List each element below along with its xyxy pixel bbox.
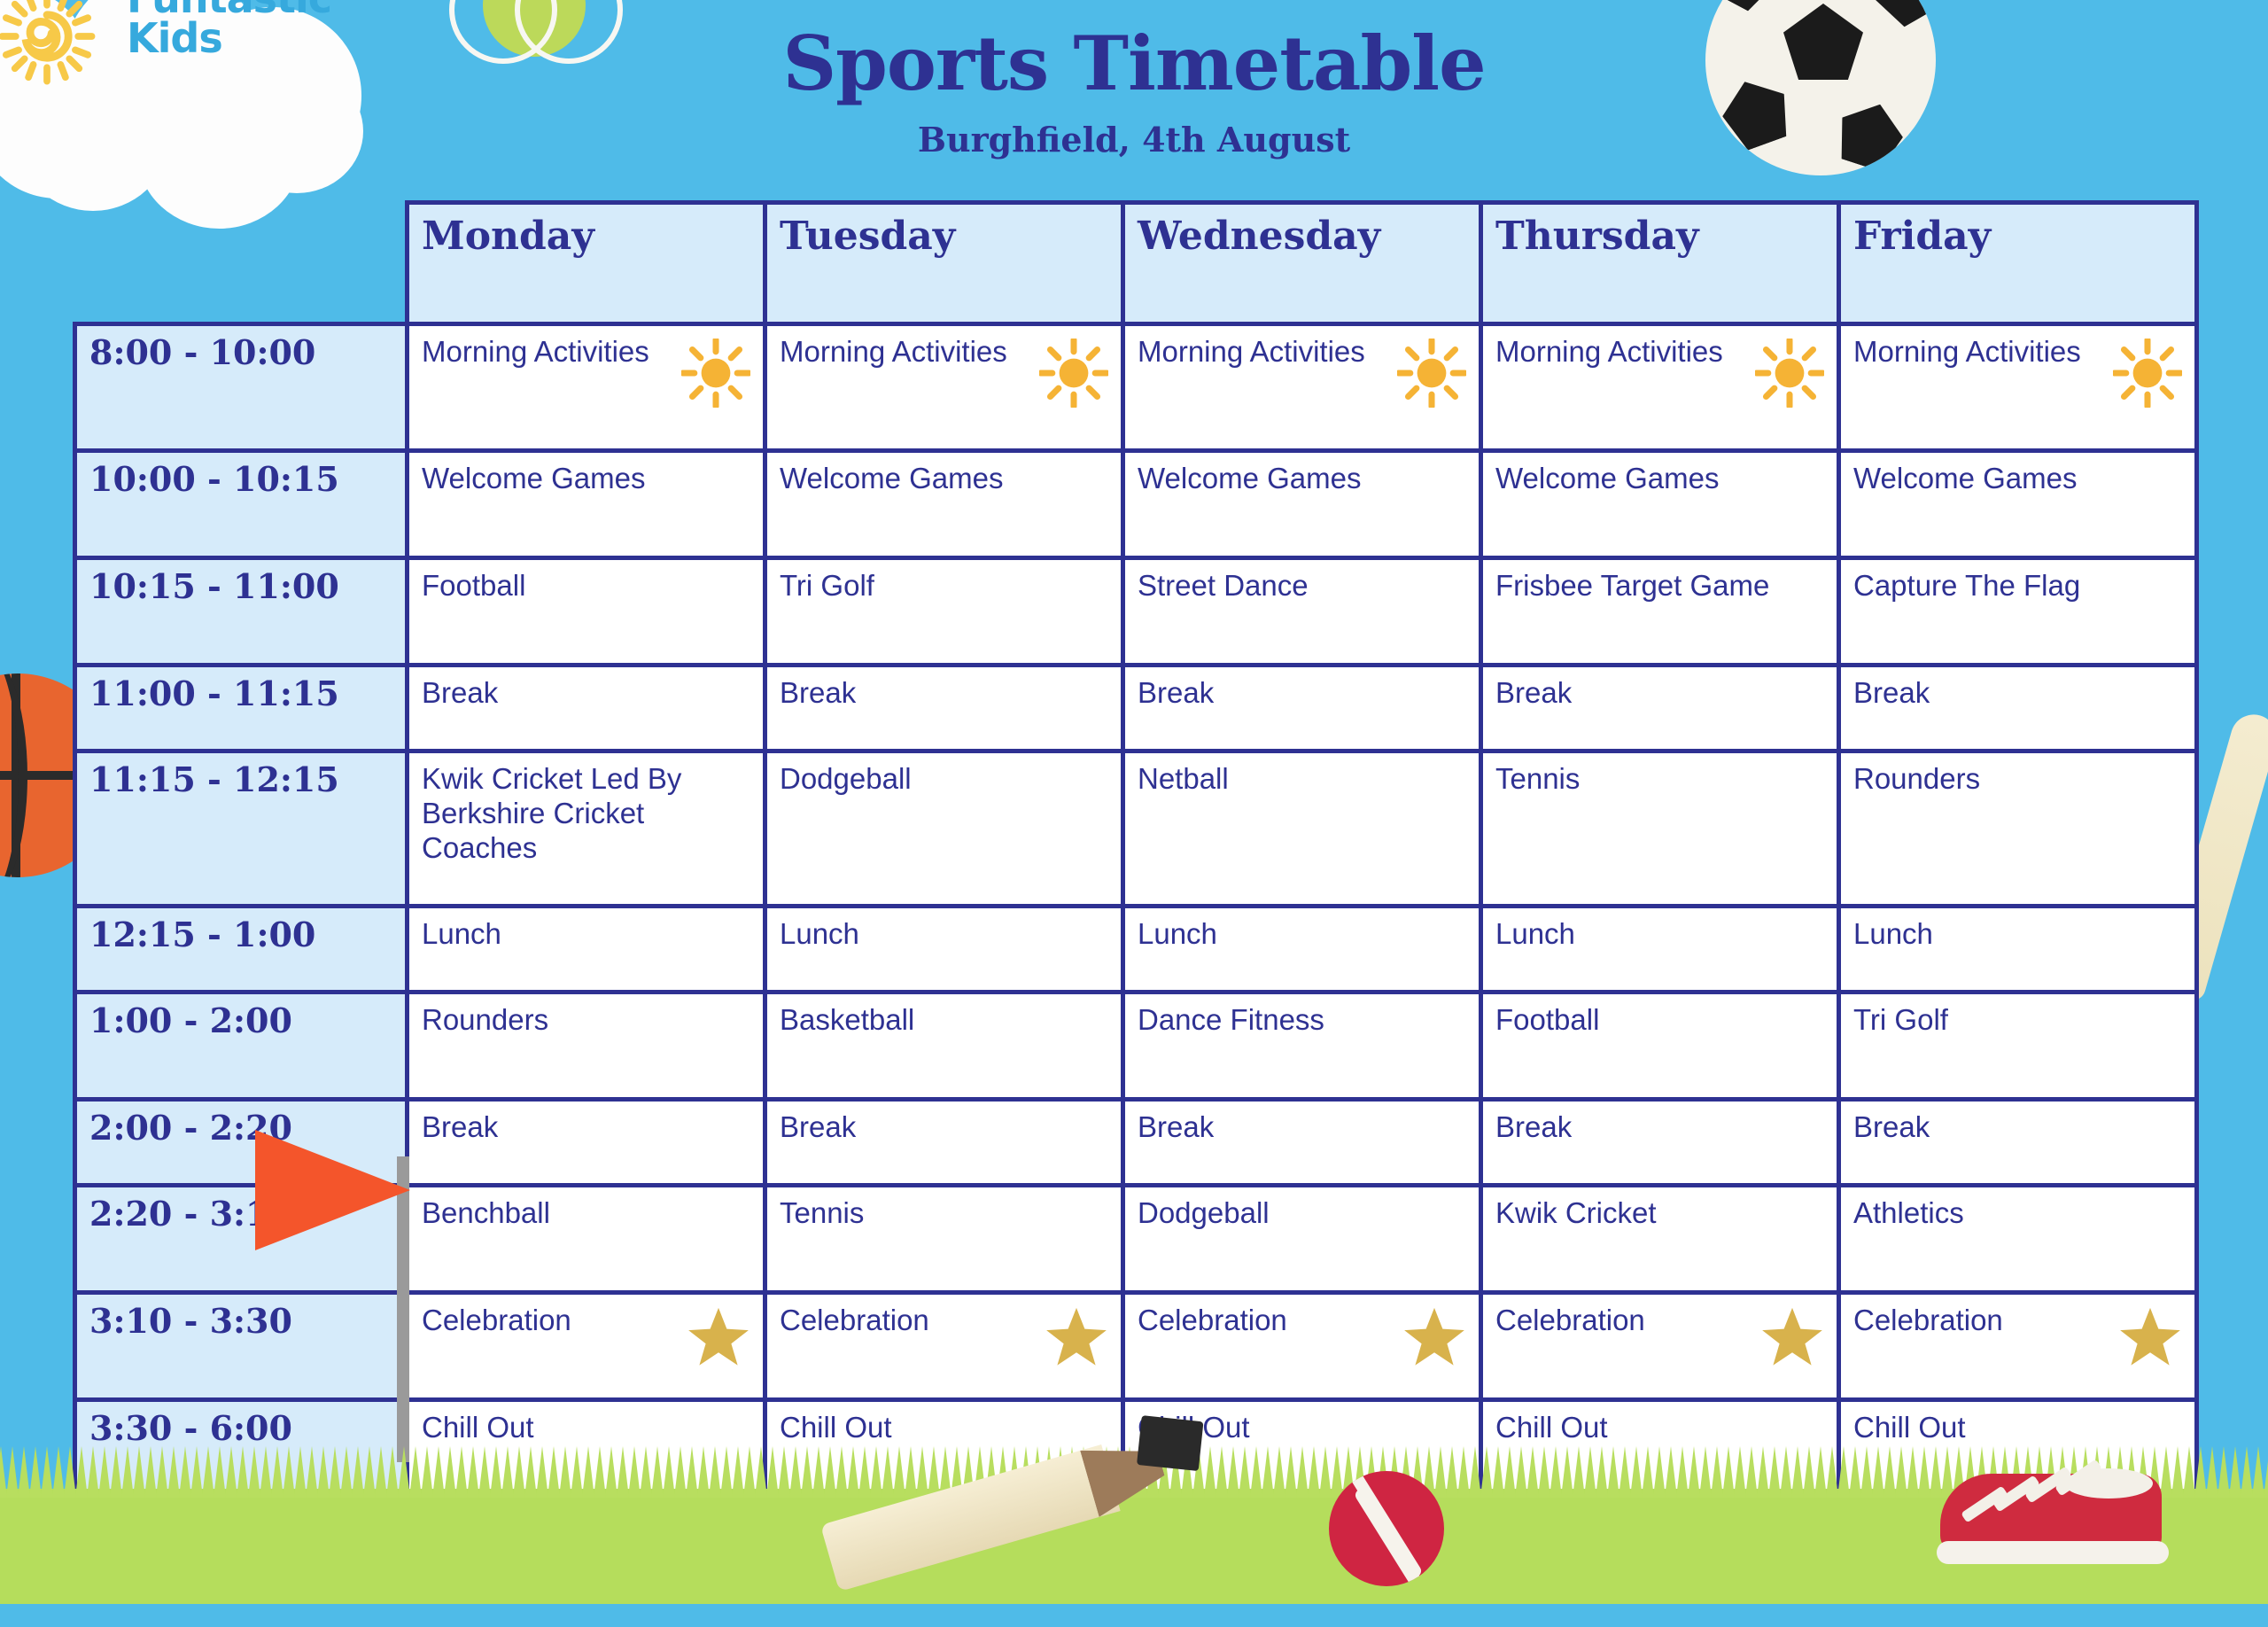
activity-label: Break	[1853, 1110, 2182, 1145]
grass-blade	[1745, 1446, 1758, 1498]
grass-blade	[778, 1446, 790, 1498]
activity-label: Lunch	[1495, 917, 1824, 952]
grass-blade	[1630, 1446, 1643, 1498]
grass-blade	[1757, 1446, 1769, 1498]
grass-blade	[1688, 1446, 1700, 1498]
grass-blade	[789, 1446, 802, 1498]
activity-cell: Welcome Games	[765, 451, 1123, 558]
star-icon	[1402, 1305, 1466, 1369]
grass-blade	[1814, 1446, 1827, 1498]
page-title: Sports Timetable	[0, 19, 2268, 107]
grass-blade	[1860, 1446, 1873, 1498]
time-slot-cell: 11:00 - 11:15	[75, 666, 408, 751]
grass-blade	[2194, 1446, 2207, 1498]
time-slot-cell: 8:00 - 10:00	[75, 324, 408, 451]
grass-blade	[306, 1446, 318, 1498]
day-header-wednesday: Wednesday	[1123, 203, 1481, 324]
timetable-row: 10:00 - 10:15Welcome GamesWelcome GamesW…	[75, 451, 2197, 558]
trainer-shoe-decoration	[1940, 1467, 2179, 1577]
grass-blade	[2229, 1446, 2241, 1498]
grass-blade	[1262, 1446, 1274, 1498]
activity-label: Break	[1495, 1110, 1824, 1145]
grass-blade	[2206, 1446, 2218, 1498]
activity-label: Tennis	[780, 1196, 1108, 1231]
grass-blade	[674, 1446, 687, 1498]
grass-blade	[571, 1446, 583, 1498]
activity-label: Frisbee Target Game	[1495, 569, 1824, 603]
grass-blade	[1216, 1446, 1228, 1498]
activity-cell: Athletics	[1839, 1186, 2197, 1293]
activity-cell: Dodgeball	[765, 751, 1123, 907]
activity-label: Athletics	[1853, 1196, 2182, 1231]
grass-blade	[1711, 1446, 1723, 1498]
grass-blade	[1872, 1446, 1884, 1498]
activity-label: Lunch	[422, 917, 750, 952]
day-header-thursday: Thursday	[1481, 203, 1839, 324]
star-icon	[1045, 1305, 1108, 1369]
activity-cell: Tennis	[1481, 751, 1839, 907]
grass-blade	[409, 1446, 422, 1498]
activity-label: Chill Out	[422, 1411, 750, 1445]
grass-blade	[1837, 1446, 1850, 1498]
activity-cell: Break	[1481, 1100, 1839, 1186]
grass-blade	[1446, 1446, 1458, 1498]
grass-blade	[2241, 1446, 2253, 1498]
activity-cell: Celebration	[1123, 1293, 1481, 1400]
page-subtitle: Burghfield, 4th August	[0, 120, 2268, 160]
grass-blade	[1895, 1446, 1907, 1498]
corner-flag-decoration	[370, 1156, 485, 1369]
activity-cell: Break	[1839, 1100, 2197, 1186]
grass-blade	[651, 1446, 664, 1498]
activity-label: Morning Activities	[1138, 335, 1390, 370]
grass-blade	[1849, 1446, 1861, 1498]
activity-cell: Dance Fitness	[1123, 993, 1481, 1100]
grass-blade	[617, 1446, 629, 1498]
activity-label: Netball	[1138, 762, 1466, 797]
grass-blade	[594, 1446, 606, 1498]
grass-blade	[167, 1446, 180, 1498]
grass-blade	[732, 1446, 744, 1498]
activity-label: Football	[1495, 1003, 1824, 1038]
grass-blade	[766, 1446, 779, 1498]
activity-label: Welcome Games	[780, 462, 1108, 496]
grass-blade	[1492, 1446, 1504, 1498]
grass-blade	[283, 1446, 295, 1498]
activity-cell: Lunch	[1123, 907, 1481, 993]
time-slot-cell: 10:00 - 10:15	[75, 451, 408, 558]
grass-blade	[1826, 1446, 1838, 1498]
activity-cell: Celebration	[765, 1293, 1123, 1400]
grass-blade	[75, 1446, 88, 1498]
activity-label: Break	[780, 676, 1108, 711]
activity-cell: Break	[1839, 666, 2197, 751]
grass-blade	[156, 1446, 168, 1498]
shoe-sole	[1937, 1541, 2169, 1564]
grass-blade	[1239, 1446, 1251, 1498]
grass-blade	[179, 1446, 191, 1498]
activity-label: Morning Activities	[780, 335, 1032, 370]
grass-blade	[628, 1446, 641, 1498]
activity-cell: Celebration	[1839, 1293, 2197, 1400]
grass-blade	[548, 1446, 560, 1498]
grass-blade	[2183, 1446, 2195, 1498]
cricket-bat-handle	[1137, 1415, 1203, 1471]
grass-blade	[202, 1446, 214, 1498]
activity-label: Welcome Games	[1138, 462, 1466, 496]
grass-blade	[1285, 1446, 1297, 1498]
activity-cell: Lunch	[1481, 907, 1839, 993]
grass-blade	[582, 1446, 594, 1498]
grass-blade	[605, 1446, 617, 1498]
activity-cell: Break	[1481, 666, 1839, 751]
activity-cell: Football	[408, 558, 765, 666]
activity-label: Morning Activities	[1495, 335, 1748, 370]
activity-label: Break	[1138, 676, 1466, 711]
grass-blade	[513, 1446, 525, 1498]
activity-cell: Welcome Games	[1839, 451, 2197, 558]
activity-label: Kwik Cricket Led By Berkshire Cricket Co…	[422, 762, 750, 866]
grass-blade	[1607, 1446, 1619, 1498]
activity-cell: Morning Activities	[1839, 324, 2197, 451]
grass-blade	[432, 1446, 445, 1498]
activity-label: Lunch	[1138, 917, 1466, 952]
activity-label: Street Dance	[1138, 569, 1466, 603]
basketball-line	[0, 673, 27, 877]
grass-blade	[755, 1446, 767, 1498]
grass-blade	[248, 1446, 260, 1498]
sun-icon	[2113, 339, 2182, 408]
grass-blade	[1526, 1446, 1539, 1498]
grass-blade	[1584, 1446, 1596, 1498]
activity-cell: Celebration	[1481, 1293, 1839, 1400]
grass-blade	[709, 1446, 721, 1498]
grass-blade	[52, 1446, 65, 1498]
grass-blade	[1319, 1446, 1332, 1498]
grass-blade	[1250, 1446, 1262, 1498]
activity-label: Break	[422, 1110, 750, 1145]
grass-blade	[697, 1446, 710, 1498]
activity-cell: Lunch	[765, 907, 1123, 993]
time-slot-cell: 1:00 - 2:00	[75, 993, 408, 1100]
time-slot-cell: 3:10 - 3:30	[75, 1293, 408, 1400]
grass-blade	[2218, 1446, 2230, 1498]
activity-label: Welcome Games	[422, 462, 750, 496]
grass-blade	[87, 1446, 99, 1498]
grass-blade	[6, 1446, 19, 1498]
grass-blade	[444, 1446, 456, 1498]
activity-cell: Tri Golf	[1839, 993, 2197, 1100]
flag-pennant	[255, 1130, 410, 1250]
grass-blade	[386, 1446, 399, 1498]
activity-label: Break	[1853, 676, 2182, 711]
grass-blade	[1734, 1446, 1746, 1498]
grass-blade	[1469, 1446, 1481, 1498]
grass-blade	[271, 1446, 283, 1498]
grass-blade	[375, 1446, 387, 1498]
activity-cell: Netball	[1123, 751, 1481, 907]
activity-label: Dodgeball	[1138, 1196, 1466, 1231]
grass-blade	[1227, 1446, 1239, 1498]
sun-icon	[681, 339, 750, 408]
activity-label: Tennis	[1495, 762, 1824, 797]
grass-blade	[743, 1446, 756, 1498]
activity-cell: Welcome Games	[1123, 451, 1481, 558]
activity-cell: Kwik Cricket Led By Berkshire Cricket Co…	[408, 751, 765, 907]
activity-cell: Rounders	[408, 993, 765, 1100]
activity-cell: Capture The Flag	[1839, 558, 2197, 666]
timetable-row: 11:00 - 11:15BreakBreakBreakBreakBreak	[75, 666, 2197, 751]
grass-blade	[1722, 1446, 1735, 1498]
grass-blade	[1550, 1446, 1562, 1498]
grass-blade	[1791, 1446, 1804, 1498]
grass-blade	[352, 1446, 364, 1498]
grass-blade	[1596, 1446, 1608, 1498]
grass-blade	[294, 1446, 307, 1498]
grass-blade	[801, 1446, 813, 1498]
grass-blade	[1907, 1446, 1919, 1498]
activity-cell: Welcome Games	[1481, 451, 1839, 558]
grass-blade	[640, 1446, 652, 1498]
activity-cell: Break	[1123, 666, 1481, 751]
activity-label: Celebration	[1495, 1304, 1753, 1338]
activity-label: Lunch	[780, 917, 1108, 952]
timetable-row: 12:15 - 1:00LunchLunchLunchLunchLunch	[75, 907, 2197, 993]
activity-cell: Break	[1123, 1100, 1481, 1186]
activity-cell: Lunch	[408, 907, 765, 993]
grass-blade	[1780, 1446, 1792, 1498]
activity-label: Celebration	[780, 1304, 1037, 1338]
timetable-row: 10:15 - 11:00FootballTri GolfStreet Danc…	[75, 558, 2197, 666]
grass-blade	[317, 1446, 330, 1498]
activity-label: Basketball	[780, 1003, 1108, 1038]
activity-label: Capture The Flag	[1853, 569, 2182, 603]
grass-blade	[467, 1446, 479, 1498]
grass-blade	[110, 1446, 122, 1498]
grass-blade	[824, 1446, 836, 1498]
grass-blade	[478, 1446, 491, 1498]
sun-icon	[1039, 339, 1108, 408]
grass-blade	[1434, 1446, 1447, 1498]
activity-label: Welcome Games	[1495, 462, 1824, 496]
activity-cell: Morning Activities	[1123, 324, 1481, 451]
star-icon	[1760, 1305, 1824, 1369]
grass-blade	[1331, 1446, 1343, 1498]
activity-cell: Basketball	[765, 993, 1123, 1100]
grass-blade	[41, 1446, 53, 1498]
star-icon	[687, 1305, 750, 1369]
star-icon	[2118, 1305, 2182, 1369]
grass-blade	[720, 1446, 733, 1498]
activity-cell: Morning Activities	[1481, 324, 1839, 451]
timetable-row: 1:00 - 2:00RoundersBasketballDance Fitne…	[75, 993, 2197, 1100]
activity-label: Kwik Cricket	[1495, 1196, 1824, 1231]
grass-blade	[1676, 1446, 1689, 1498]
cricket-ball-decoration	[1329, 1471, 1444, 1586]
activity-cell: Rounders	[1839, 751, 2197, 907]
grass-blade	[1768, 1446, 1781, 1498]
grass-blade	[421, 1446, 433, 1498]
activity-cell: Tri Golf	[765, 558, 1123, 666]
timetable-header-row: Monday Tuesday Wednesday Thursday Friday	[75, 203, 2197, 324]
grass-blade	[490, 1446, 502, 1498]
grass-blade	[1884, 1446, 1896, 1498]
grass-blade	[1538, 1446, 1550, 1498]
grass-blade	[1273, 1446, 1285, 1498]
activity-cell: Frisbee Target Game	[1481, 558, 1839, 666]
grass-blade	[1515, 1446, 1527, 1498]
grass-blade	[2264, 1446, 2268, 1498]
activity-cell: Morning Activities	[765, 324, 1123, 451]
grass-blade	[455, 1446, 468, 1498]
grass-blade	[559, 1446, 571, 1498]
grass-blade	[1573, 1446, 1585, 1498]
grass-blade	[64, 1446, 76, 1498]
activity-label: Break	[780, 1110, 1108, 1145]
activity-label: Celebration	[1138, 1304, 1395, 1338]
activity-label: Break	[422, 676, 750, 711]
activity-label: Rounders	[1853, 762, 2182, 797]
grass-blade	[1561, 1446, 1573, 1498]
timetable-row: 8:00 - 10:00Morning Activities Morning A…	[75, 324, 2197, 451]
activity-label: Morning Activities	[422, 335, 674, 370]
activity-label: Welcome Games	[1853, 462, 2182, 496]
grass-blade	[133, 1446, 145, 1498]
grass-blade	[812, 1446, 825, 1498]
grass-blade	[524, 1446, 537, 1498]
activity-label: Dance Fitness	[1138, 1003, 1466, 1038]
timetable-corner-cell	[75, 203, 408, 324]
timetable-row: 11:15 - 12:15Kwik Cricket Led By Berkshi…	[75, 751, 2197, 907]
grass-blade	[98, 1446, 111, 1498]
day-header-monday: Monday	[408, 203, 765, 324]
grass-blade	[1665, 1446, 1677, 1498]
activity-cell: Dodgeball	[1123, 1186, 1481, 1293]
time-slot-cell: 12:15 - 1:00	[75, 907, 408, 993]
activity-cell: Tennis	[765, 1186, 1123, 1293]
grass-blade	[144, 1446, 157, 1498]
grass-blade	[1699, 1446, 1712, 1498]
activity-label: Tri Golf	[780, 569, 1108, 603]
activity-cell: Street Dance	[1123, 558, 1481, 666]
grass-blade	[398, 1446, 410, 1498]
grass-blade	[1918, 1446, 1930, 1498]
grass-blade	[686, 1446, 698, 1498]
grass-blade	[29, 1446, 42, 1498]
activity-cell: Break	[765, 1100, 1123, 1186]
grass-blade	[363, 1446, 376, 1498]
activity-label: Football	[422, 569, 750, 603]
grass-blade	[1457, 1446, 1470, 1498]
grass-blade	[1642, 1446, 1654, 1498]
activity-label: Chill Out	[1495, 1411, 1824, 1445]
sun-icon	[1755, 339, 1824, 408]
day-header-friday: Friday	[1839, 203, 2197, 324]
grass-blade	[1653, 1446, 1666, 1498]
sun-icon	[1397, 339, 1466, 408]
grass-blade	[1803, 1446, 1815, 1498]
activity-label: Tri Golf	[1853, 1003, 2182, 1038]
activity-label: Break	[1495, 676, 1824, 711]
grass-blade	[2252, 1446, 2264, 1498]
activity-cell: Football	[1481, 993, 1839, 1100]
grass-blade	[1619, 1446, 1631, 1498]
grass-blade	[1503, 1446, 1516, 1498]
grass-blade	[1308, 1446, 1320, 1498]
day-header-tuesday: Tuesday	[765, 203, 1123, 324]
grass-blade	[260, 1446, 272, 1498]
grass-blade	[1296, 1446, 1309, 1498]
grass-blade	[1480, 1446, 1493, 1498]
activity-label: Rounders	[422, 1003, 750, 1038]
activity-label: Celebration	[1853, 1304, 2111, 1338]
grass-blade	[501, 1446, 514, 1498]
grass-blade	[237, 1446, 249, 1498]
grass-blade	[190, 1446, 203, 1498]
activity-cell: Break	[408, 666, 765, 751]
activity-label: Morning Activities	[1853, 335, 2106, 370]
grass-blade	[663, 1446, 675, 1498]
activity-label: Chill Out	[1853, 1411, 2182, 1445]
cricket-ball-seam	[1353, 1487, 1433, 1586]
grass-blade	[121, 1446, 134, 1498]
activity-label: Break	[1138, 1110, 1466, 1145]
grass-blade	[18, 1446, 30, 1498]
grass-blade	[536, 1446, 548, 1498]
activity-label: Dodgeball	[780, 762, 1108, 797]
time-slot-cell: 11:15 - 12:15	[75, 751, 408, 907]
activity-label: Lunch	[1853, 917, 2182, 952]
grass-blade	[340, 1446, 353, 1498]
activity-cell: Kwik Cricket	[1481, 1186, 1839, 1293]
time-slot-cell: 10:15 - 11:00	[75, 558, 408, 666]
grass-blade	[225, 1446, 237, 1498]
grass-blade	[214, 1446, 226, 1498]
activity-cell: Welcome Games	[408, 451, 765, 558]
activity-cell: Morning Activities	[408, 324, 765, 451]
grass-blade	[329, 1446, 341, 1498]
activity-cell: Lunch	[1839, 907, 2197, 993]
activity-cell: Break	[765, 666, 1123, 751]
